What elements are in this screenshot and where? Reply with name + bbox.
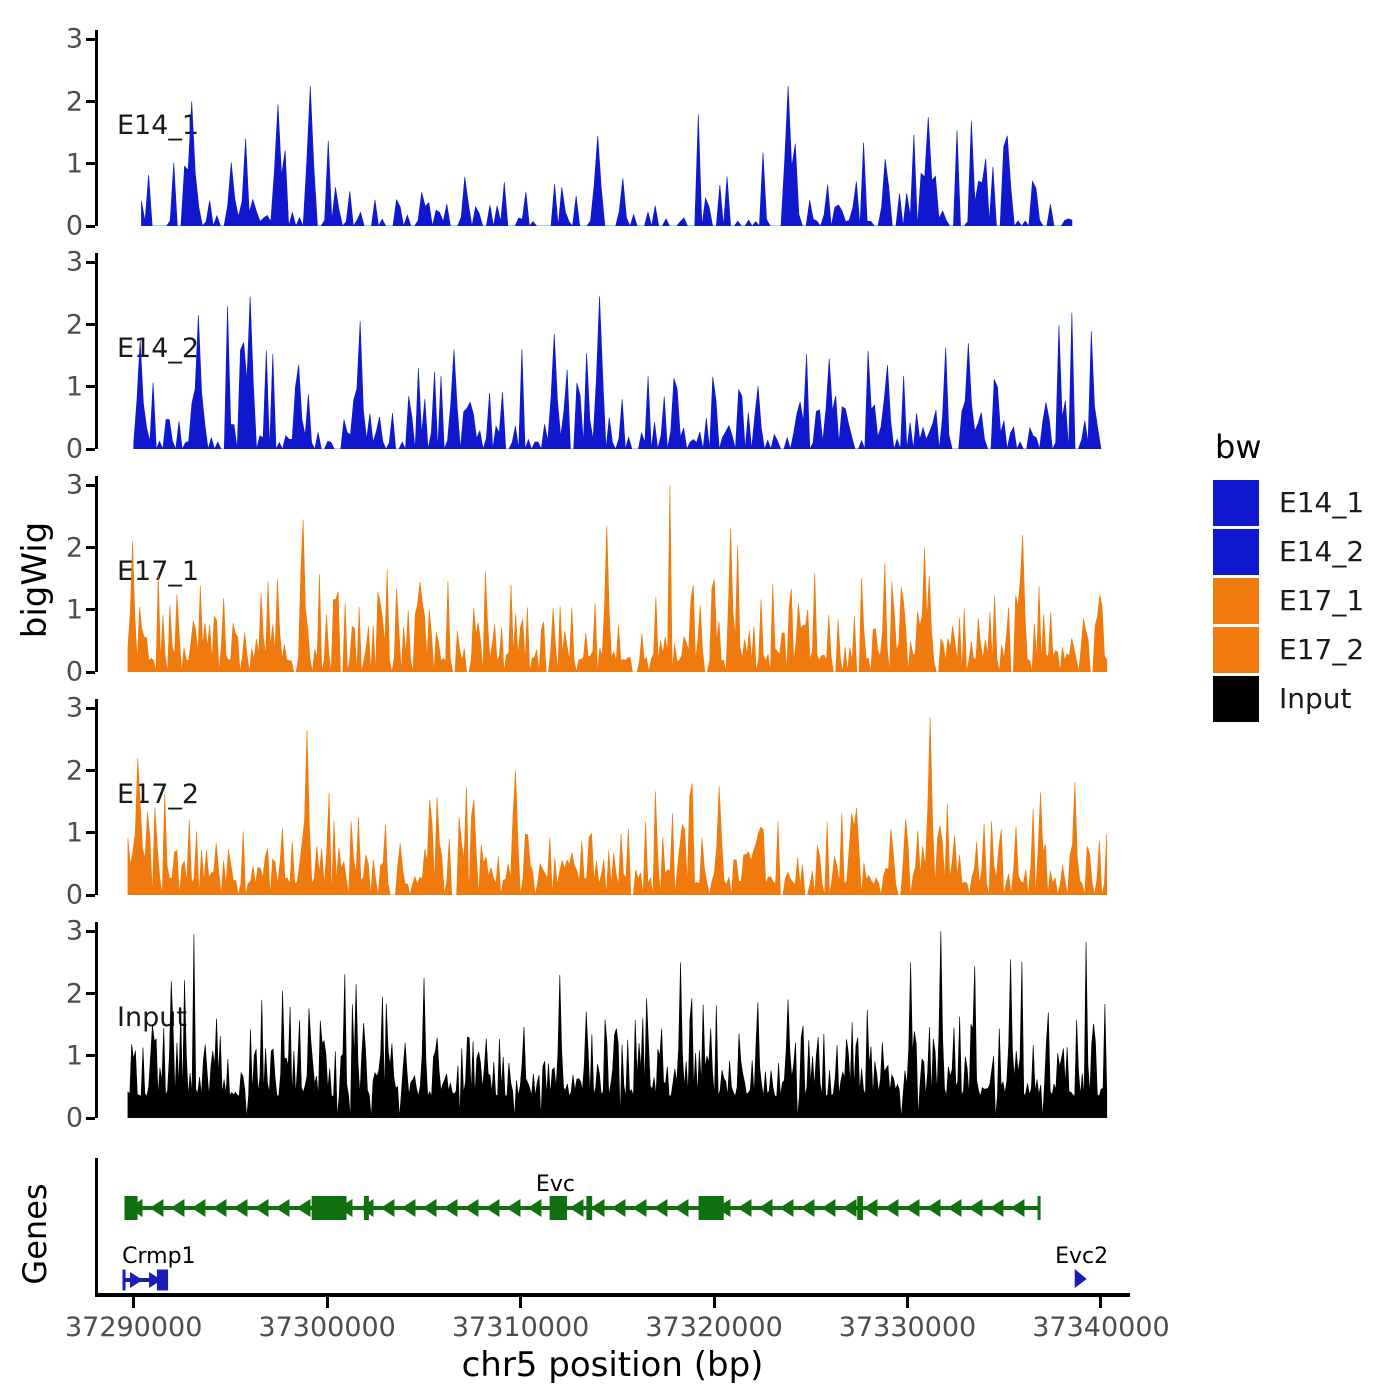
- y-tick-label: 1: [66, 371, 83, 402]
- gene-label-evc2: Evc2: [1055, 1244, 1108, 1269]
- track-panel-e14_1: 0123E14_1: [95, 30, 1290, 226]
- legend-item-e14_2[interactable]: E14_2: [1213, 527, 1364, 576]
- x-tick-mark: [132, 1297, 135, 1308]
- track-signal-e17_1: [95, 476, 1290, 672]
- y-tick-label: 3: [66, 247, 83, 278]
- strand-arrow-icon: [675, 1199, 689, 1217]
- y-tick-mark: [86, 992, 95, 995]
- legend-label: E17_1: [1279, 584, 1364, 617]
- strand-arrow-icon: [444, 1199, 458, 1217]
- legend-item-e14_1[interactable]: E14_1: [1213, 478, 1364, 527]
- x-tick-mark: [326, 1297, 329, 1308]
- y-tick-label: 0: [66, 434, 83, 465]
- y-tick-mark: [86, 162, 95, 165]
- strand-arrow-icon: [612, 1199, 626, 1217]
- y-tick-mark: [86, 1117, 95, 1120]
- x-axis-title: chr5 position (bp): [95, 1345, 1130, 1385]
- strand-arrow-icon: [633, 1199, 647, 1217]
- strand-arrow-icon: [192, 1199, 206, 1217]
- gene-exon: [157, 1270, 167, 1291]
- strand-arrow-icon: [130, 1272, 142, 1288]
- genes-axis-title: Genes: [16, 1164, 54, 1304]
- x-tick-mark: [1099, 1297, 1102, 1308]
- gene-end-cap: [123, 1270, 126, 1291]
- gene-exon: [699, 1196, 724, 1220]
- legend-item-e17_1[interactable]: E17_1: [1213, 576, 1364, 625]
- y-tick-label: 3: [66, 916, 83, 947]
- track-panel-input: 0123Input: [95, 922, 1290, 1118]
- y-tick-mark: [86, 707, 95, 710]
- y-tick-label: 2: [66, 86, 83, 117]
- y-tick-label: 1: [66, 594, 83, 625]
- gene-arrow-icon: [1075, 1269, 1087, 1288]
- gene-exon: [126, 1196, 138, 1220]
- strand-arrow-icon: [213, 1199, 227, 1217]
- y-tick-mark: [86, 608, 95, 611]
- strand-arrow-icon: [927, 1199, 941, 1217]
- y-tick-mark: [86, 484, 95, 487]
- strand-arrow-icon: [507, 1199, 521, 1217]
- track-signal-e14_2: [95, 253, 1290, 449]
- y-tick-label: 1: [66, 817, 83, 848]
- y-tick-label: 3: [66, 470, 83, 501]
- strand-arrow-icon: [654, 1199, 668, 1217]
- strand-arrow-icon: [906, 1199, 920, 1217]
- strand-arrow-icon: [591, 1199, 605, 1217]
- legend-item-input[interactable]: Input: [1213, 674, 1364, 723]
- y-tick-label: 0: [66, 657, 83, 688]
- y-tick-label: 1: [66, 148, 83, 179]
- strand-arrow-icon: [423, 1199, 437, 1217]
- x-tick-mark: [713, 1297, 716, 1308]
- x-tick-mark: [519, 1297, 522, 1308]
- strand-arrow-icon: [738, 1199, 752, 1217]
- track-signal-e17_2: [95, 699, 1290, 895]
- legend-label: Input: [1279, 682, 1352, 715]
- legend-label: E14_1: [1279, 486, 1364, 519]
- track-signal-e14_1: [95, 30, 1290, 226]
- y-tick-mark: [86, 261, 95, 264]
- y-tick-mark: [86, 831, 95, 834]
- strand-arrow-icon: [234, 1199, 248, 1217]
- gene-exon: [857, 1196, 863, 1220]
- legend: bw E14_1E14_2E17_1E17_2Input: [1213, 428, 1364, 723]
- strand-arrow-icon: [381, 1199, 395, 1217]
- track-signal-input: [95, 922, 1290, 1118]
- strand-arrow-icon: [801, 1199, 815, 1217]
- gene-label-evc: Evc: [536, 1172, 575, 1197]
- strand-arrow-icon: [864, 1199, 878, 1217]
- strand-arrow-icon: [465, 1199, 479, 1217]
- y-tick-mark: [86, 930, 95, 933]
- strand-arrow-icon: [528, 1199, 542, 1217]
- y-tick-mark: [86, 1054, 95, 1057]
- strand-arrow-icon: [276, 1199, 290, 1217]
- strand-arrow-icon: [297, 1199, 311, 1217]
- legend-label: E14_2: [1279, 535, 1364, 568]
- y-tick-mark: [86, 323, 95, 326]
- x-tick-label: 37300000: [258, 1312, 395, 1343]
- x-axis: 3729000037300000373100003732000037330000…: [95, 1293, 1385, 1333]
- strand-arrow-icon: [822, 1199, 836, 1217]
- gene-exon: [550, 1196, 567, 1220]
- legend-swatch-e14_1: [1213, 480, 1259, 526]
- x-tick-label: 37330000: [839, 1312, 976, 1343]
- legend-swatch-input: [1213, 676, 1259, 722]
- strand-arrow-icon: [969, 1199, 983, 1217]
- track-panel-e17_1: 0123E17_1: [95, 476, 1290, 672]
- x-tick-label: 37310000: [452, 1312, 589, 1343]
- y-tick-mark: [86, 38, 95, 41]
- strand-arrow-icon: [570, 1199, 584, 1217]
- gene-end-cap: [1038, 1196, 1041, 1220]
- gene-exon: [364, 1196, 369, 1220]
- y-tick-mark: [86, 546, 95, 549]
- y-tick-mark: [86, 671, 95, 674]
- bigwig-axis-title: bigWig: [15, 500, 55, 660]
- strand-arrow-icon: [402, 1199, 416, 1217]
- strand-arrow-icon: [1011, 1199, 1025, 1217]
- y-tick-mark: [86, 894, 95, 897]
- x-tick-label: 37340000: [1032, 1312, 1169, 1343]
- y-tick-mark: [86, 100, 95, 103]
- strand-arrow-icon: [486, 1199, 500, 1217]
- y-tick-label: 1: [66, 1040, 83, 1071]
- track-panel-e17_2: 0123E17_2: [95, 699, 1290, 895]
- legend-swatch-e14_2: [1213, 529, 1259, 575]
- strand-arrow-icon: [948, 1199, 962, 1217]
- gene-evc2[interactable]: [1075, 1269, 1087, 1288]
- track-panel-e14_2: 0123E14_2: [95, 253, 1290, 449]
- gene-exon: [586, 1196, 592, 1220]
- y-tick-mark: [86, 769, 95, 772]
- strand-arrow-icon: [255, 1199, 269, 1217]
- genes-svg: [95, 1158, 1385, 1293]
- strand-arrow-icon: [843, 1199, 857, 1217]
- y-tick-mark: [86, 225, 95, 228]
- strand-arrow-icon: [885, 1199, 899, 1217]
- legend-item-e17_2[interactable]: E17_2: [1213, 625, 1364, 674]
- legend-swatch-e17_2: [1213, 627, 1259, 673]
- x-tick-label: 37290000: [65, 1312, 202, 1343]
- strand-arrow-icon: [780, 1199, 794, 1217]
- y-tick-label: 0: [66, 880, 83, 911]
- legend-label: E17_2: [1279, 633, 1364, 666]
- y-tick-label: 3: [66, 24, 83, 55]
- x-axis-line: [95, 1293, 1130, 1297]
- x-tick-label: 37320000: [645, 1312, 782, 1343]
- x-tick-mark: [906, 1297, 909, 1308]
- y-tick-label: 0: [66, 211, 83, 242]
- y-tick-label: 3: [66, 693, 83, 724]
- strand-arrow-icon: [150, 1199, 164, 1217]
- y-tick-mark: [86, 448, 95, 451]
- y-tick-mark: [86, 385, 95, 388]
- y-tick-label: 2: [66, 978, 83, 1009]
- strand-arrow-icon: [990, 1199, 1004, 1217]
- genes-panel: EvcCrmp1Evc2: [95, 1158, 1385, 1293]
- legend-title: bw: [1215, 428, 1364, 466]
- gene-label-crmp1: Crmp1: [122, 1244, 195, 1269]
- y-tick-label: 2: [66, 309, 83, 340]
- y-tick-label: 2: [66, 755, 83, 786]
- gene-crmp1[interactable]: [123, 1270, 169, 1291]
- gene-exon: [312, 1196, 347, 1220]
- strand-arrow-icon: [171, 1199, 185, 1217]
- y-tick-label: 0: [66, 1103, 83, 1134]
- gene-evc[interactable]: [124, 1196, 1040, 1220]
- legend-rows: E14_1E14_2E17_1E17_2Input: [1213, 478, 1364, 723]
- y-tick-label: 2: [66, 532, 83, 563]
- strand-arrow-icon: [759, 1199, 773, 1217]
- legend-swatch-e17_1: [1213, 578, 1259, 624]
